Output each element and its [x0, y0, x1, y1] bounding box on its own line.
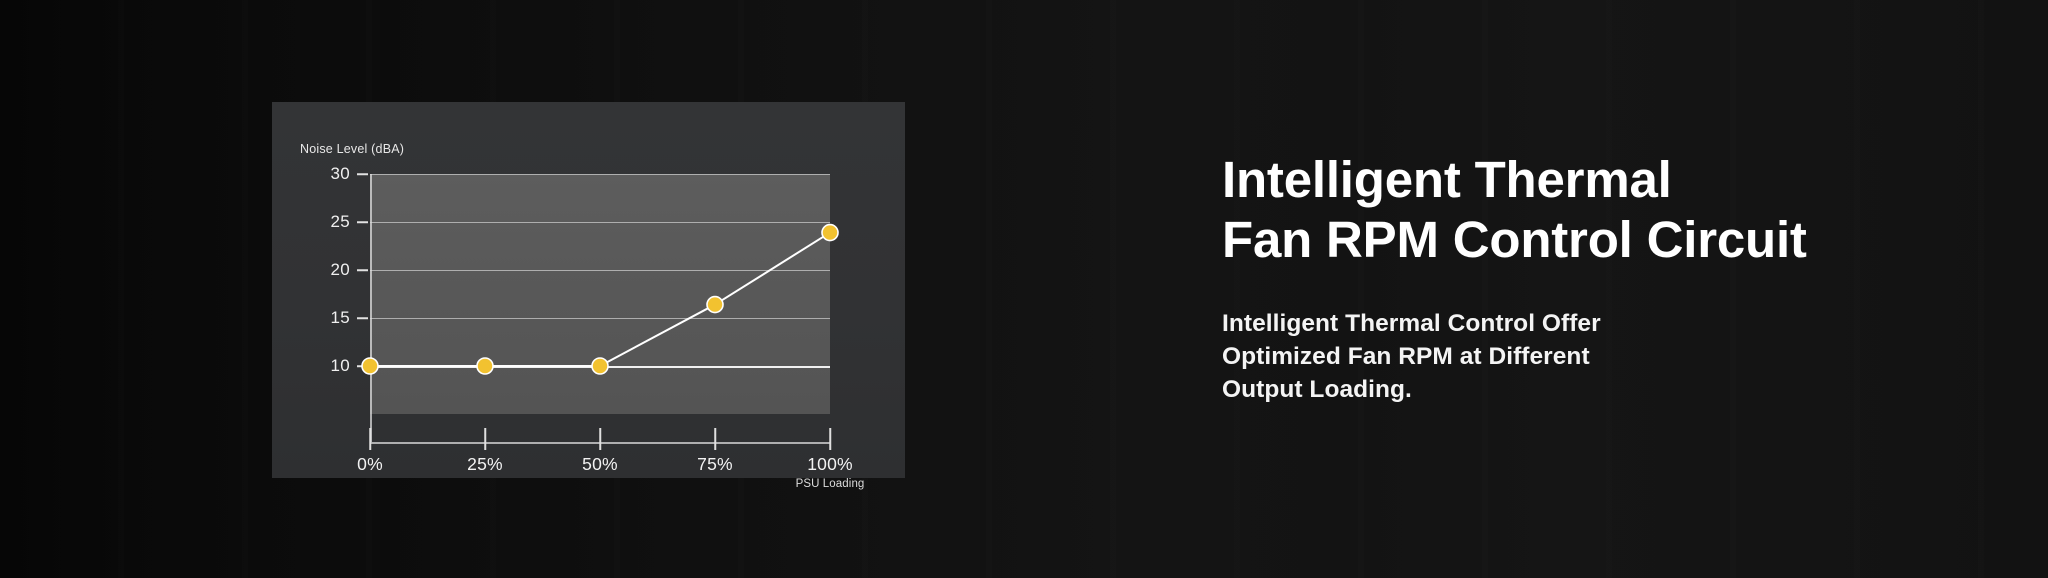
data-point-marker[interactable] [362, 358, 378, 374]
page-title: Intelligent Thermal Fan RPM Control Circ… [1222, 150, 1982, 269]
series-line [370, 233, 830, 366]
y-tick-mark [357, 317, 368, 319]
y-tick-mark [357, 221, 368, 223]
data-point-marker[interactable] [477, 358, 493, 374]
y-tick-label: 30 [306, 164, 350, 184]
noise-level-series [370, 174, 830, 414]
y-tick-label: 25 [306, 212, 350, 232]
x-tick-mark [829, 428, 831, 450]
x-tick-mark [599, 428, 601, 450]
x-tick-mark [714, 428, 716, 450]
y-axis-title: Noise Level (dBA) [300, 142, 404, 156]
y-tick-mark [357, 269, 368, 271]
y-tick-label: 10 [306, 356, 350, 376]
x-tick-label: 50% [582, 454, 618, 475]
data-point-marker[interactable] [707, 297, 723, 313]
body-paragraph: Intelligent Thermal Control Offer Optimi… [1222, 307, 1982, 406]
x-tick-mark [484, 428, 486, 450]
data-point-marker[interactable] [822, 225, 838, 241]
noise-level-chart-panel: Noise Level (dBA) 3025201510 0%25%50%75%… [272, 102, 905, 478]
x-tick-label: 100% [807, 454, 853, 475]
slide-canvas: Noise Level (dBA) 3025201510 0%25%50%75%… [0, 0, 2048, 578]
x-tick-label: 75% [697, 454, 733, 475]
y-tick-label: 20 [306, 260, 350, 280]
copy-block: Intelligent Thermal Fan RPM Control Circ… [1222, 150, 1982, 407]
y-tick-mark [357, 173, 368, 175]
x-axis-title: PSU Loading [796, 478, 865, 490]
y-tick-label: 15 [306, 308, 350, 328]
x-tick-mark [369, 428, 371, 450]
x-tick-label: 0% [357, 454, 383, 475]
data-point-marker[interactable] [592, 358, 608, 374]
x-tick-label: 25% [467, 454, 503, 475]
